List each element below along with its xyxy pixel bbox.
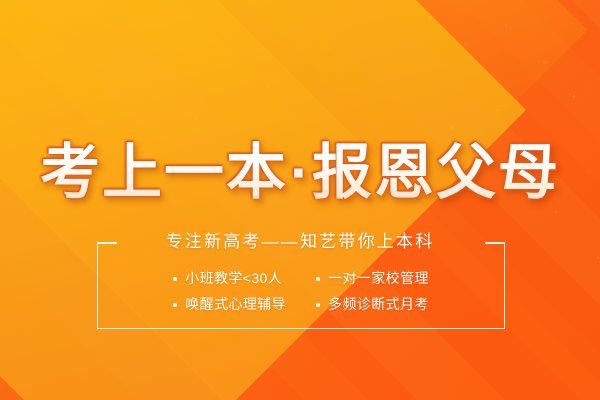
list-item-label: 多频诊断式月考 <box>328 294 429 315</box>
headline-part-2: 报恩父母 <box>312 139 560 206</box>
list-item: 一对一家校管理 <box>316 268 429 289</box>
subtitle: 专注新高考——知艺带你上本科 <box>0 231 600 253</box>
headline-part-1: 考上一本 <box>40 139 288 206</box>
dot-bullet-icon <box>173 277 177 281</box>
feature-column-right: 一对一家校管理 多频诊断式月考 <box>316 268 429 315</box>
dot-bullet-icon <box>316 303 320 307</box>
list-item-label: 唤醒式心理辅导 <box>185 294 286 315</box>
feature-column-left: 小班教学<30人 唤醒式心理辅导 <box>173 268 286 315</box>
list-item: 小班教学<30人 <box>173 268 286 289</box>
headline-separator-dot: · <box>288 139 312 206</box>
list-item-label: 小班教学<30人 <box>185 268 282 289</box>
dot-bullet-icon <box>173 303 177 307</box>
list-item: 唤醒式心理辅导 <box>173 294 286 315</box>
list-item: 多频诊断式月考 <box>316 294 429 315</box>
headline: 考上一本·报恩父母 <box>0 140 600 206</box>
dot-bullet-icon <box>316 277 320 281</box>
list-item-label: 一对一家校管理 <box>328 268 429 289</box>
promo-banner: 考上一本·报恩父母 专注新高考——知艺带你上本科 小班教学<30人 唤醒式心理辅… <box>0 0 600 400</box>
feature-list: 小班教学<30人 唤醒式心理辅导 一对一家校管理 多频诊断式月考 <box>97 268 505 315</box>
